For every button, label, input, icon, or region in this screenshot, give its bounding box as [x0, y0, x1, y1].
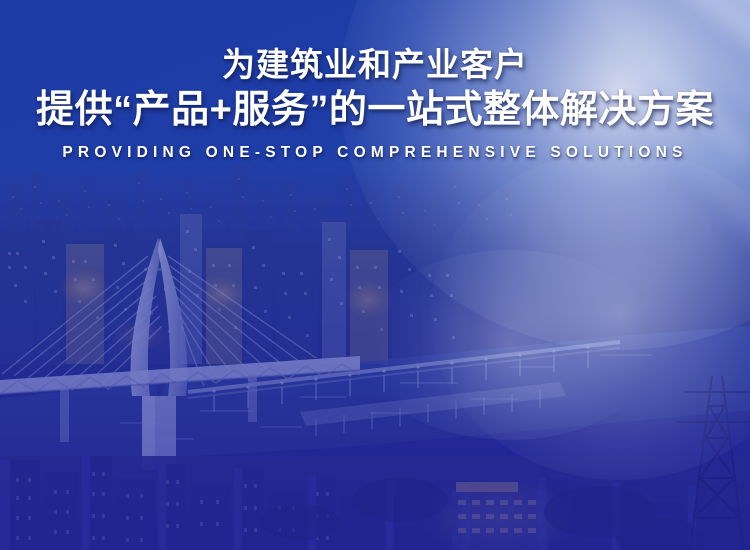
- cityscape-photo: [0, 160, 750, 550]
- headline-line-2: 提供“产品+服务”的一站式整体解决方案: [0, 88, 750, 133]
- headline-block: 为建筑业和产业客户 提供“产品+服务”的一站式整体解决方案 PROVIDING …: [0, 46, 750, 162]
- cityscape-illustration: [0, 160, 750, 550]
- headline-line-1: 为建筑业和产业客户: [0, 46, 750, 85]
- headline-subtitle: PROVIDING ONE-STOP COMPREHENSIVE SOLUTIO…: [0, 144, 750, 162]
- hero-banner: 为建筑业和产业客户 提供“产品+服务”的一站式整体解决方案 PROVIDING …: [0, 0, 750, 550]
